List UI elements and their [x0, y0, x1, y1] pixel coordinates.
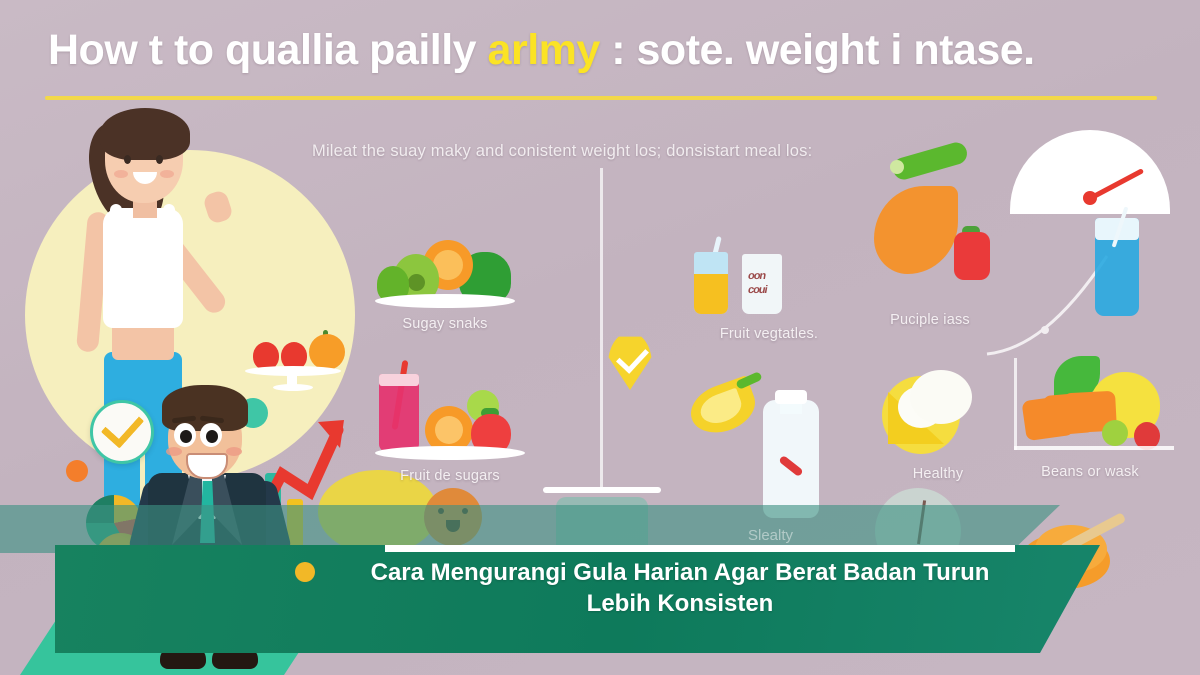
woman-cheek-left	[114, 170, 128, 178]
banner-title: Cara Mengurangi Gula Harian Agar Berat B…	[330, 558, 1030, 619]
card-label-sugay-snaks: Sugay snaks	[375, 316, 515, 332]
card-label-beans-or-wask: Beans or wask	[1010, 464, 1170, 480]
woman-eye-left	[124, 155, 131, 164]
header-divider-rule	[45, 96, 1157, 100]
card-label-fruit-vegtatles: Fruit vegtatles.	[684, 326, 854, 342]
orange-juice-fill	[694, 274, 728, 314]
lime-icon	[1102, 420, 1128, 446]
fruit-stand-icon	[245, 330, 345, 390]
basket-pole	[1014, 358, 1017, 450]
basket-base-line	[1014, 446, 1174, 450]
infographic-canvas: How t to quallia pailly arlmy : sote. we…	[0, 0, 1200, 675]
banana-icon	[874, 186, 958, 274]
banner-title-line-1: Cara Mengurangi Gula Harian Agar Berat B…	[330, 558, 1030, 589]
card-label-slealty: Slealty	[748, 527, 793, 544]
businessman-cheek-left	[166, 447, 182, 456]
cream-blob-1	[910, 370, 972, 424]
woman-cheek-right	[160, 170, 174, 178]
plate-icon	[375, 294, 515, 308]
card-label-healthy: Healthy	[868, 466, 1008, 482]
milk-label-line-2: coui	[747, 284, 768, 296]
vertical-divider-center	[600, 168, 603, 490]
smoothie-foam	[379, 374, 419, 386]
woman-hair-top	[100, 108, 190, 160]
page-subtitle: Mileat the suay maky and conistent weigh…	[312, 142, 932, 161]
cucumber-cut-end	[890, 160, 904, 174]
milk-label-line-1: oon	[747, 270, 766, 282]
banner-title-line-2: Lebih Konsisten	[330, 589, 1030, 620]
water-bottle-icon	[763, 400, 819, 518]
banner-accent-dot	[295, 562, 315, 582]
page-title: How t to quallia pailly arlmy : sote. we…	[48, 26, 1178, 75]
woman-eye-right	[156, 155, 163, 164]
orange-fruit-inner	[435, 416, 463, 444]
bottle-cap	[775, 390, 807, 404]
headline-segment-2: : sote. weight i ntase.	[600, 26, 1035, 74]
decor-dot-orange	[66, 460, 88, 482]
plate-icon	[375, 446, 525, 460]
businessman-pupil-right	[206, 430, 218, 443]
headline-highlight: arlmy	[488, 26, 600, 74]
businessman-pupil-left	[180, 430, 192, 443]
banner-divider-line	[385, 545, 1015, 552]
avocado-pit	[408, 274, 425, 291]
gauge-needle-pivot	[1083, 191, 1097, 205]
woman-strap-left	[110, 204, 122, 230]
card-label-fruit-de-sugars: Fruit de sugars	[375, 468, 525, 484]
businessman-cheek-right	[226, 447, 242, 456]
headline-segment-1: How t to quallia pailly	[48, 26, 488, 74]
woman-strap-right	[163, 204, 175, 230]
orange-fruit	[309, 334, 345, 370]
scale-bar	[543, 487, 661, 493]
